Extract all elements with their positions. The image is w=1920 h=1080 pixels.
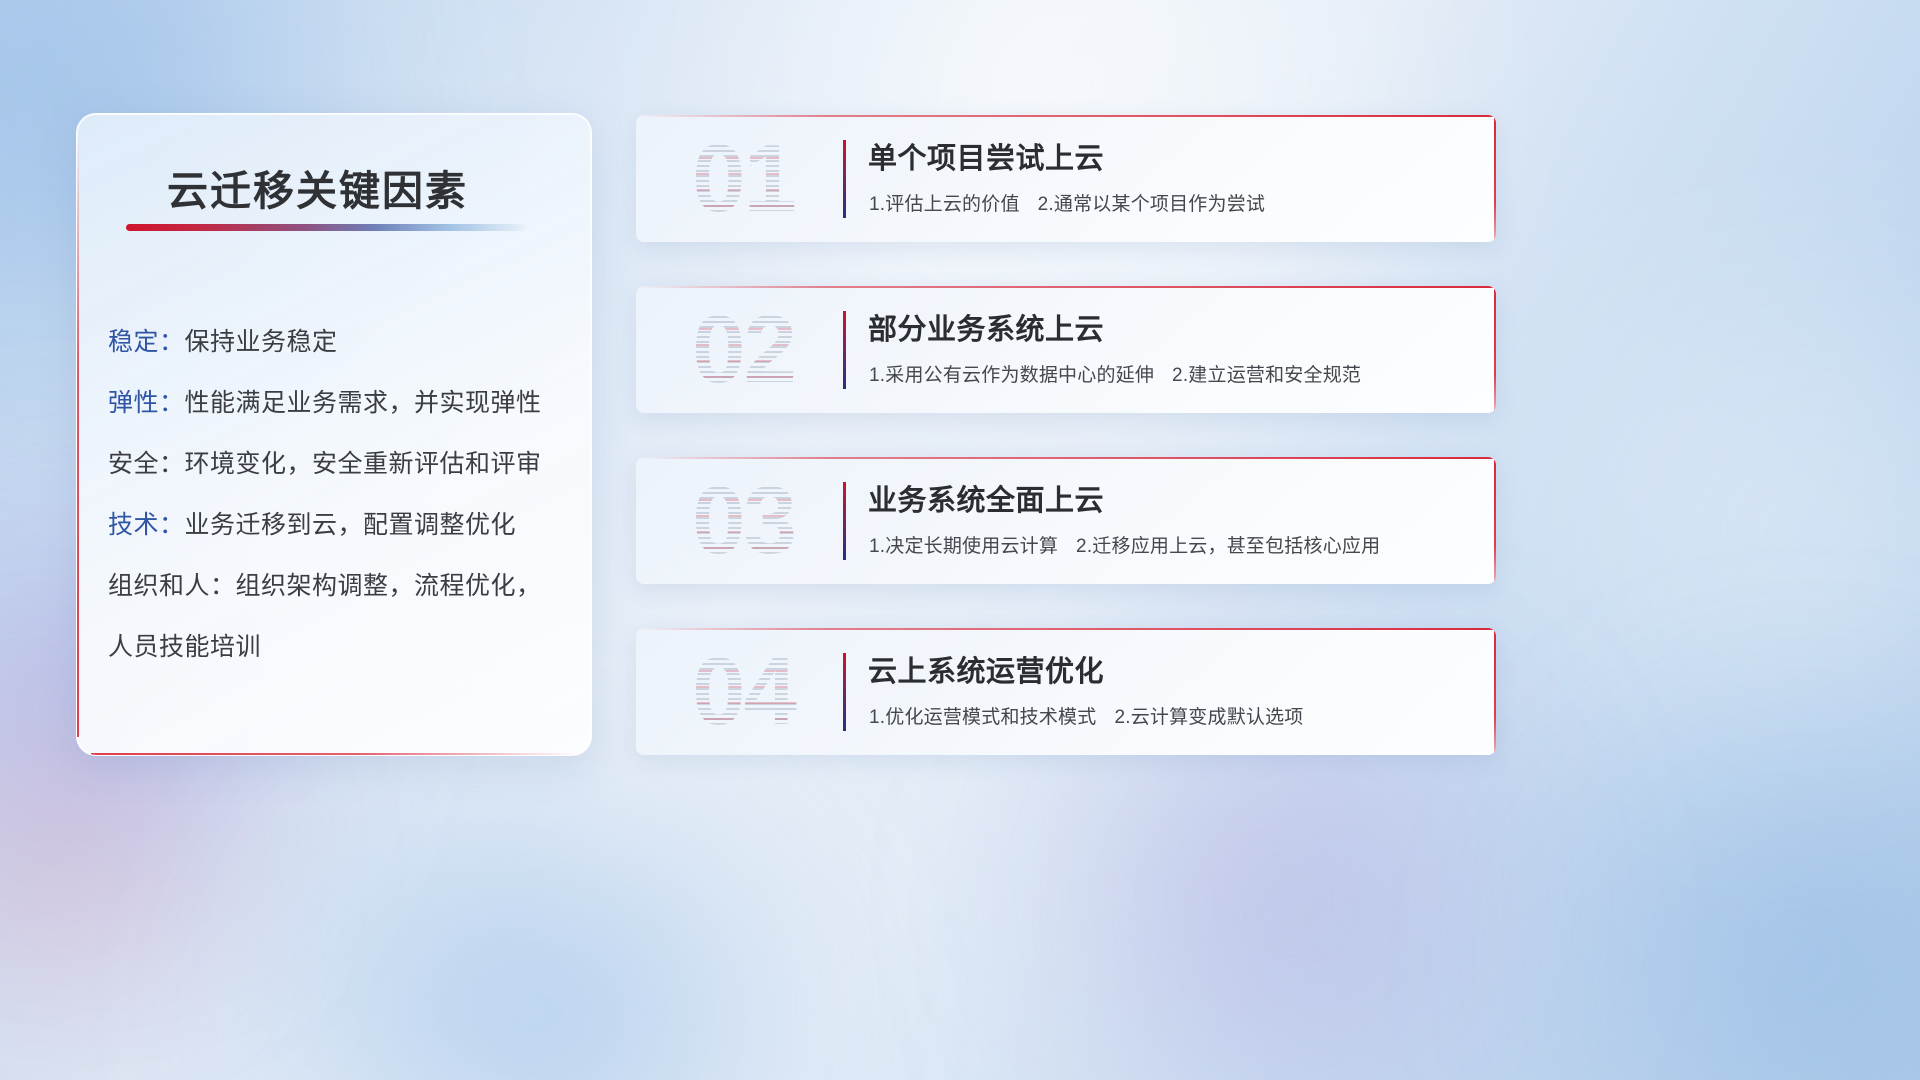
stage-card[interactable]: 03 03 业务系统全面上云 1.决定长期使用云计算2.迁移应用上云，甚至包括核… [636, 457, 1496, 584]
key-factor-item: 人员技能培训 [108, 617, 571, 678]
card-divider [843, 653, 846, 731]
key-factor-item: 弹性：性能满足业务需求，并实现弹性 [108, 373, 571, 434]
stage-description: 1.决定长期使用云计算2.迁移应用上云，甚至包括核心应用 [869, 531, 1380, 558]
key-factor-text: 保持业务稳定 [185, 328, 338, 356]
key-factor-text: 业务迁移到云，配置调整优化 [185, 511, 517, 539]
key-factor-label: 组织和人： [108, 572, 236, 600]
title-underline [126, 224, 526, 231]
stage-heading: 云上系统运营优化 [868, 648, 1104, 690]
key-factor-label: 弹性： [108, 389, 185, 417]
key-factor-text: 组织架构调整，流程优化， [236, 572, 542, 600]
stage-description-part-1: 1.评估上云的价值 [869, 194, 1020, 215]
stage-number-tint: 04 [656, 638, 831, 746]
card-divider [843, 140, 846, 218]
stage-description-part-2: 2.通常以某个项目作为尝试 [1038, 194, 1265, 215]
card-divider [843, 311, 846, 389]
stage-description: 1.评估上云的价值2.通常以某个项目作为尝试 [869, 189, 1265, 216]
key-factor-text: 环境变化，安全重新评估和评审 [185, 450, 542, 478]
stage-description-part-2: 2.建立运营和安全规范 [1172, 365, 1361, 386]
stage-description: 1.采用公有云作为数据中心的延伸2.建立运营和安全规范 [869, 360, 1361, 387]
key-factor-item: 稳定：保持业务稳定 [108, 312, 571, 373]
stage-description-part-1: 1.决定长期使用云计算 [869, 536, 1058, 557]
stage-description-part-2: 2.云计算变成默认选项 [1114, 707, 1303, 728]
stage-number-tint: 03 [656, 467, 831, 575]
stage-description: 1.优化运营模式和技术模式2.云计算变成默认选项 [869, 702, 1304, 729]
stage-description-part-2: 2.迁移应用上云，甚至包括核心应用 [1076, 536, 1380, 557]
stage-card[interactable]: 01 01 单个项目尝试上云 1.评估上云的价值2.通常以某个项目作为尝试 [636, 115, 1496, 242]
key-factor-label: 稳定： [108, 328, 185, 356]
card-divider [843, 482, 846, 560]
slide-canvas: 云迁移关键因素 稳定：保持业务稳定弹性：性能满足业务需求，并实现弹性安全：环境变… [0, 0, 1920, 1080]
stage-description-part-1: 1.采用公有云作为数据中心的延伸 [869, 365, 1154, 386]
stage-heading: 部分业务系统上云 [868, 306, 1104, 348]
key-factor-text: 人员技能培训 [108, 633, 261, 661]
stage-heading: 业务系统全面上云 [868, 477, 1104, 519]
stage-description-part-1: 1.优化运营模式和技术模式 [869, 707, 1096, 728]
stage-heading: 单个项目尝试上云 [868, 135, 1104, 177]
page-title: 云迁移关键因素 [167, 157, 468, 217]
key-factor-item: 技术：业务迁移到云，配置调整优化 [108, 495, 571, 556]
key-factor-label: 技术： [108, 511, 185, 539]
key-factor-item: 组织和人：组织架构调整，流程优化， [108, 556, 571, 617]
stage-card[interactable]: 02 02 部分业务系统上云 1.采用公有云作为数据中心的延伸2.建立运营和安全… [636, 286, 1496, 413]
key-factor-item: 安全：环境变化，安全重新评估和评审 [108, 434, 571, 495]
key-factor-label: 安全： [108, 450, 185, 478]
stage-number-tint: 02 [656, 296, 831, 404]
stage-card[interactable]: 04 04 云上系统运营优化 1.优化运营模式和技术模式2.云计算变成默认选项 [636, 628, 1496, 755]
stage-number-tint: 01 [656, 125, 831, 233]
key-factor-text: 性能满足业务需求，并实现弹性 [185, 389, 542, 417]
key-factors-panel: 云迁移关键因素 稳定：保持业务稳定弹性：性能满足业务需求，并实现弹性安全：环境变… [76, 113, 592, 756]
key-factors-list: 稳定：保持业务稳定弹性：性能满足业务需求，并实现弹性安全：环境变化，安全重新评估… [108, 312, 571, 678]
